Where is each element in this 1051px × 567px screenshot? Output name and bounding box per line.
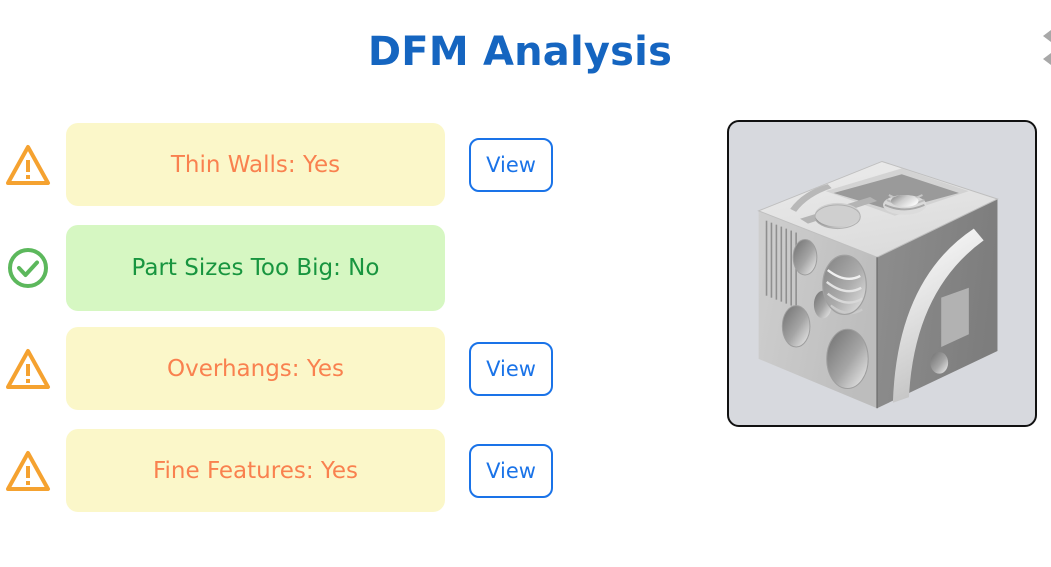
check-row-part-sizes-too-big: Part Sizes Too Big: No	[0, 225, 570, 311]
check-status-pill-overhangs: Overhangs: Yes	[66, 327, 445, 410]
check-label: Overhangs: Yes	[167, 356, 344, 382]
check-row-thin-walls: Thin Walls: Yes View	[0, 123, 570, 206]
scroll-arrow-marker-1-icon[interactable]	[1043, 30, 1051, 42]
check-circle-icon	[5, 245, 51, 291]
page-title: DFM Analysis	[0, 26, 1040, 78]
dfm-test-part-3d-model[interactable]	[729, 122, 1035, 425]
warning-triangle-icon	[5, 142, 51, 188]
model-preview-panel[interactable]	[727, 120, 1037, 427]
view-button-overhangs[interactable]: View	[469, 342, 553, 396]
check-status-pill-part-sizes-too-big: Part Sizes Too Big: No	[66, 225, 445, 311]
scroll-arrow-marker-2-icon[interactable]	[1043, 53, 1051, 65]
edge-marker-group	[1039, 30, 1051, 76]
check-label: Fine Features: Yes	[153, 458, 358, 484]
check-status-pill-thin-walls: Thin Walls: Yes	[66, 123, 445, 206]
view-button-fine-features[interactable]: View	[469, 444, 553, 498]
view-button-placeholder	[469, 241, 553, 295]
check-label: Thin Walls: Yes	[171, 152, 340, 178]
dfm-check-list: Thin Walls: Yes View Part Sizes Too Big:…	[0, 123, 570, 531]
warning-triangle-icon	[5, 346, 51, 392]
warning-triangle-icon	[5, 448, 51, 494]
check-row-fine-features: Fine Features: Yes View	[0, 429, 570, 512]
view-button-thin-walls[interactable]: View	[469, 138, 553, 192]
check-row-overhangs: Overhangs: Yes View	[0, 327, 570, 410]
check-status-pill-fine-features: Fine Features: Yes	[66, 429, 445, 512]
check-label: Part Sizes Too Big: No	[132, 255, 380, 281]
